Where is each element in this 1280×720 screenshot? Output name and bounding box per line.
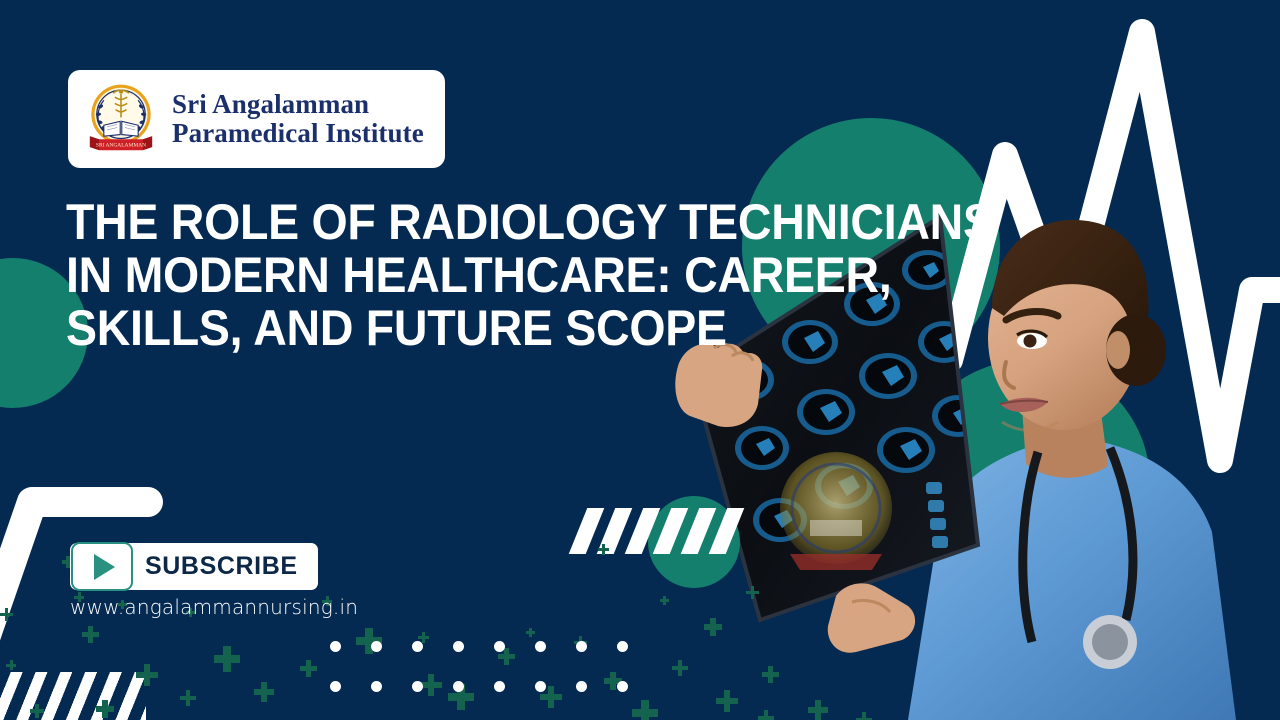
- institute-name: Sri Angalamman Paramedical Institute: [172, 90, 424, 147]
- plus-icon: [526, 628, 535, 637]
- plus-icon: [136, 664, 158, 686]
- plus-icon: [214, 646, 240, 672]
- plus-icon: [96, 700, 114, 718]
- plus-icon: [762, 666, 779, 683]
- subscribe-button-label: SUBSCRIBE: [145, 552, 298, 581]
- caduceus-book-laurel-emblem-icon: SRI ANGALAMMAN: [82, 80, 160, 158]
- website-url[interactable]: www.angalammannursing.in: [70, 595, 358, 619]
- plus-icon: [758, 710, 774, 720]
- plus-icon: [704, 618, 722, 636]
- institute-logo-card[interactable]: SRI ANGALAMMAN Sri Angalamman Paramedica…: [68, 70, 445, 168]
- plus-icon: [716, 690, 738, 712]
- plus-icon: [30, 704, 44, 718]
- page-title: The Role of Radiology Technicians in Mod…: [66, 196, 810, 355]
- page-title-line1: The Role of Radiology Technicians: [66, 196, 810, 249]
- banner-poster: SRI ANGALAMMAN Sri Angalamman Paramedica…: [0, 0, 1280, 720]
- logo-ribbon-text: SRI ANGALAMMAN: [96, 142, 146, 148]
- plus-icon: [672, 660, 688, 676]
- institute-name-line2: Paramedical Institute: [172, 119, 424, 148]
- plus-icon: [632, 700, 658, 720]
- plus-icon: [746, 586, 759, 599]
- play-icon[interactable]: [71, 542, 133, 591]
- plus-icon: [180, 690, 196, 706]
- plus-icon: [856, 712, 872, 720]
- plus-icon: [254, 682, 274, 702]
- dot-grid-icon: [330, 641, 630, 696]
- plus-icon: [808, 700, 828, 720]
- plus-icon: [598, 544, 609, 555]
- institute-name-line1: Sri Angalamman: [172, 90, 424, 119]
- plus-icon: [300, 660, 317, 677]
- page-title-line2: in Modern Healthcare: Career,: [66, 249, 810, 302]
- plus-icon: [660, 596, 669, 605]
- page-title-line3: Skills, and Future Scope: [66, 302, 810, 355]
- plus-icon: [0, 608, 13, 621]
- plus-icon: [82, 626, 99, 643]
- subscribe-button[interactable]: SUBSCRIBE: [70, 543, 318, 590]
- plus-icon: [6, 660, 16, 670]
